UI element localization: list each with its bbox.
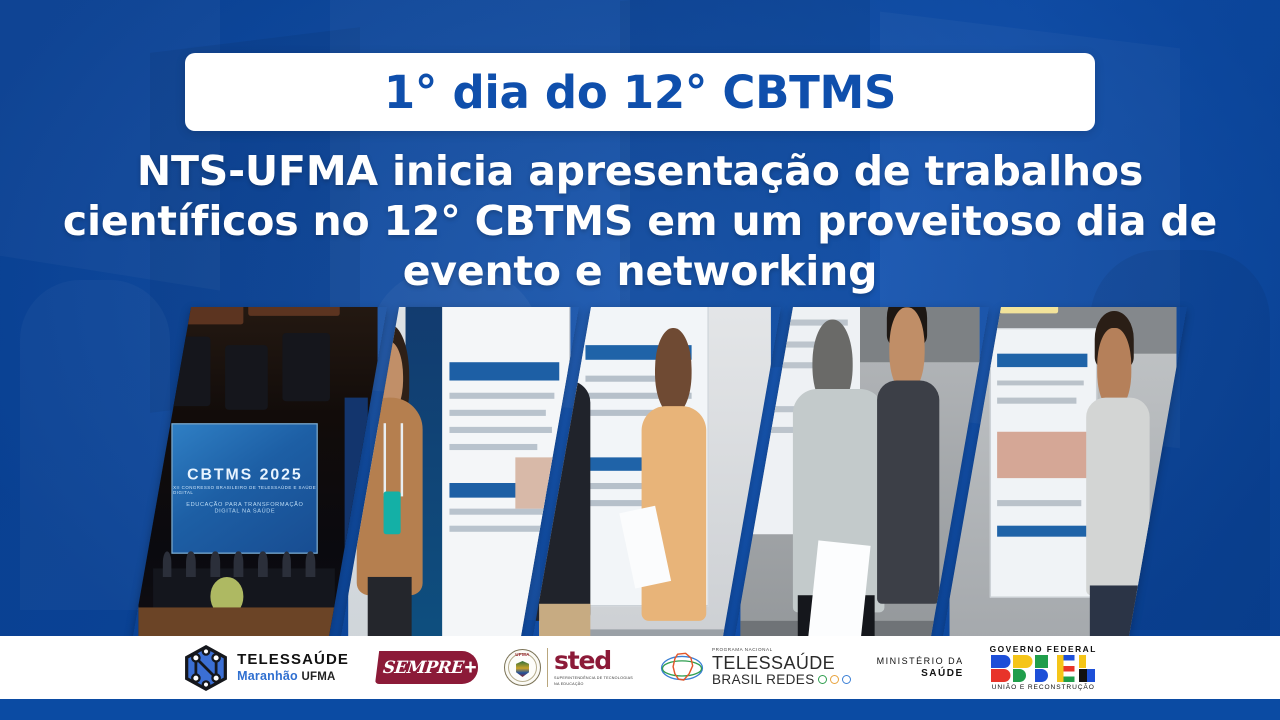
governo-federal-line2: UNIÃO E RECONSTRUÇÃO — [992, 684, 1095, 691]
photo-poster-presentation-pair — [539, 307, 771, 659]
governo-federal-line1: GOVERNO FEDERAL — [990, 644, 1097, 654]
title-badge-label: 1° dia do 12° CBTMS — [384, 66, 896, 119]
ministerio-line1: MINISTÉRIO DA — [877, 655, 964, 667]
photo-stage-slide: CBTMS 2025 XII CONGRESSO BRASILEIRO DE T… — [172, 423, 318, 554]
poster-canvas: 1° dia do 12° CBTMS NTS-UFMA inicia apre… — [0, 0, 1280, 720]
tbr-dot-orange-icon — [830, 675, 839, 684]
logo-telessaude-brasil-redes: PROGRAMA NACIONAL TELESSAÚDE BRASIL REDE… — [659, 648, 851, 688]
sted-wordmark: sted — [554, 648, 633, 673]
footer-logo-bar: TELESSAÚDE Maranhão UFMA SEMPRE + QUALID… — [0, 636, 1280, 699]
title-badge: 1° dia do 12° CBTMS — [185, 53, 1095, 131]
ufma-seal-label: UFMA — [505, 652, 540, 657]
ministerio-line2: SAÚDE — [921, 667, 964, 681]
sempre-wordmark: SEMPRE — [382, 658, 464, 678]
ufma-seal-icon: UFMA — [504, 649, 541, 686]
brasil-wordmark-icon — [991, 655, 1095, 682]
tbr-line2: BRASIL REDES — [712, 673, 815, 687]
footer-bottom-strip — [0, 699, 1280, 720]
tbr-dot-blue-icon — [842, 675, 851, 684]
hexagon-network-icon — [183, 645, 229, 691]
tbr-line1: TELESSAÚDE — [712, 654, 851, 673]
slide-tagline: EDUCAÇÃO PARA TRANSFORMAÇÃO DIGITAL NA S… — [186, 501, 303, 513]
photo-researcher-at-poster — [348, 307, 568, 659]
photo-strip: CBTMS 2025 XII CONGRESSO BRASILEIRO DE T… — [150, 325, 1100, 640]
telessaude-maranhao-line1: TELESSAÚDE — [237, 652, 349, 668]
photo-attendees-discussion — [740, 307, 979, 659]
headline: NTS-UFMA inicia apresentação de trabalho… — [60, 146, 1220, 296]
tbr-dot-green-icon — [818, 675, 827, 684]
slide-title: CBTMS 2025 — [187, 464, 303, 482]
sted-subtitle: SUPERINTENDÊNCIA DE TECNOLOGIAS NA EDUCA… — [554, 676, 633, 687]
telessaude-maranhao-suffix: UFMA — [302, 671, 336, 683]
logo-telessaude-maranhao-ufma: TELESSAÚDE Maranhão UFMA — [183, 645, 349, 691]
tbr-eyebrow: PROGRAMA NACIONAL — [712, 648, 851, 653]
brazil-map-icon — [659, 648, 705, 688]
telessaude-maranhao-brand: Maranhão — [237, 669, 298, 683]
sempre-values: QUALIDADE INOVAÇÃO INCLUSÃO — [481, 659, 504, 675]
photo-auditorium-stage: CBTMS 2025 XII CONGRESSO BRASILEIRO DE T… — [138, 307, 377, 659]
logo-ministerio-da-saude: MINISTÉRIO DA SAÚDE — [877, 655, 964, 681]
logo-sted: UFMA sted SUPERINTENDÊNCIA DE TECNOLOGIA… — [504, 648, 633, 687]
logo-sempre-mais: SEMPRE + QUALIDADE INOVAÇÃO INCLUSÃO — [375, 651, 478, 684]
slide-subtitle: XII CONGRESSO BRASILEIRO DE TELESSAÚDE E… — [173, 485, 316, 495]
logo-governo-federal: GOVERNO FEDERAL — [990, 644, 1097, 691]
